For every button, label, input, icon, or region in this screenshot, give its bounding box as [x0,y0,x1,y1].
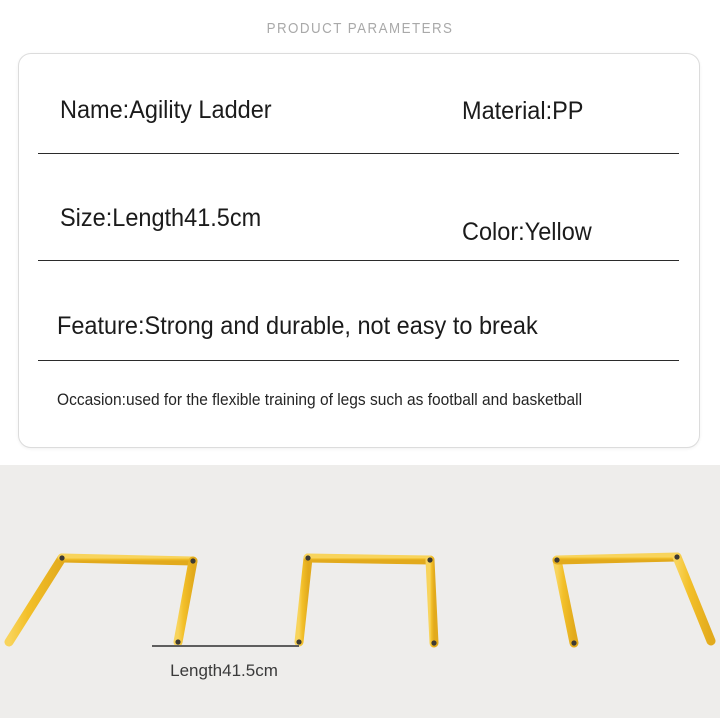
page-title: PRODUCT PARAMETERS [29,21,691,37]
table-row: Name:Agility Ladder Material:PP [38,96,679,156]
spec-occasion-value: Occasion:used for the flexible training … [57,391,582,410]
spec-feature-value: Feature:Strong and durable, not easy to … [57,312,538,341]
spec-size-value: Size:Length41.5cm [60,204,261,233]
spec-table: Name:Agility Ladder Material:PP Size:Len… [19,54,701,449]
table-row: Size:Length41.5cm Color:Yellow [38,204,679,264]
product-parameters-page: PRODUCT PARAMETERS Name:Agility Ladder M… [0,0,720,718]
spec-color-value: Color:Yellow [462,218,592,247]
row-divider [38,360,679,361]
ladder-joints [59,554,679,645]
row-divider [38,153,679,154]
measurement-label: Length41.5cm [0,661,448,681]
table-row: Feature:Strong and durable, not easy to … [38,312,679,370]
spec-card: Name:Agility Ladder Material:PP Size:Len… [18,53,700,448]
spec-material-value: Material:PP [462,97,583,126]
table-row: Occasion:used for the flexible training … [38,391,679,431]
spec-name-value: Name:Agility Ladder [60,96,272,125]
measurement-line [152,645,299,647]
row-divider [38,260,679,261]
